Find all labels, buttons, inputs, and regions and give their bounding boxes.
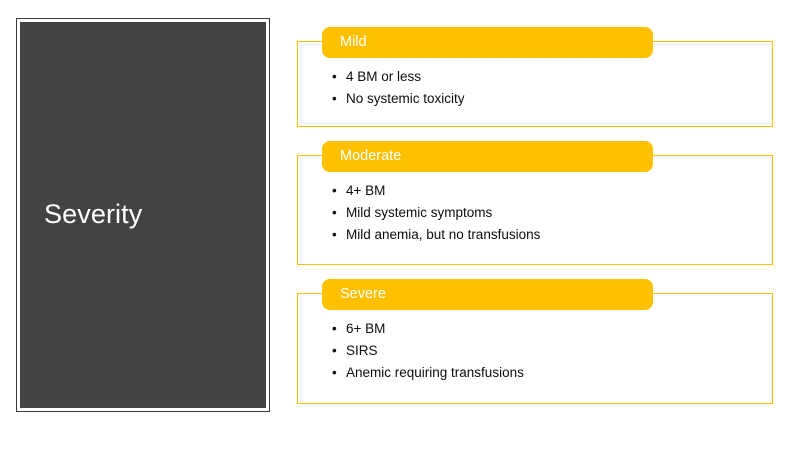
card-header-moderate: Moderate (322, 141, 653, 172)
card-body-severe: 6+ BM SIRS Anemic requiring transfusions (297, 318, 773, 384)
list-item: 4+ BM (332, 180, 773, 202)
list-item: 4 BM or less (332, 66, 773, 88)
list-item: No systemic toxicity (332, 88, 773, 110)
list-item: SIRS (332, 340, 773, 362)
bullet-list-severe: 6+ BM SIRS Anemic requiring transfusions (332, 318, 773, 384)
card-header-label-moderate: Moderate (322, 149, 401, 164)
card-header-label-severe: Severe (322, 287, 386, 302)
list-item: Mild systemic symptoms (332, 202, 773, 224)
card-body-mild: 4 BM or less No systemic toxicity (297, 66, 773, 110)
list-item: Anemic requiring transfusions (332, 362, 773, 384)
slide-canvas: Severity Mild 4 BM or less No systemic t… (0, 0, 800, 450)
severity-title-panel-fill: Severity (20, 22, 266, 408)
bullet-list-moderate: 4+ BM Mild systemic symptoms Mild anemia… (332, 180, 773, 246)
severity-card-list: Mild 4 BM or less No systemic toxicity M… (297, 0, 773, 450)
list-item: Mild anemia, but no transfusions (332, 224, 773, 246)
bullet-list-mild: 4 BM or less No systemic toxicity (332, 66, 773, 110)
severity-title-panel: Severity (16, 18, 270, 412)
page-title: Severity (20, 200, 142, 230)
card-header-label-mild: Mild (322, 35, 367, 50)
list-item: 6+ BM (332, 318, 773, 340)
card-header-severe: Severe (322, 279, 653, 310)
card-header-mild: Mild (322, 27, 653, 58)
card-body-moderate: 4+ BM Mild systemic symptoms Mild anemia… (297, 180, 773, 246)
